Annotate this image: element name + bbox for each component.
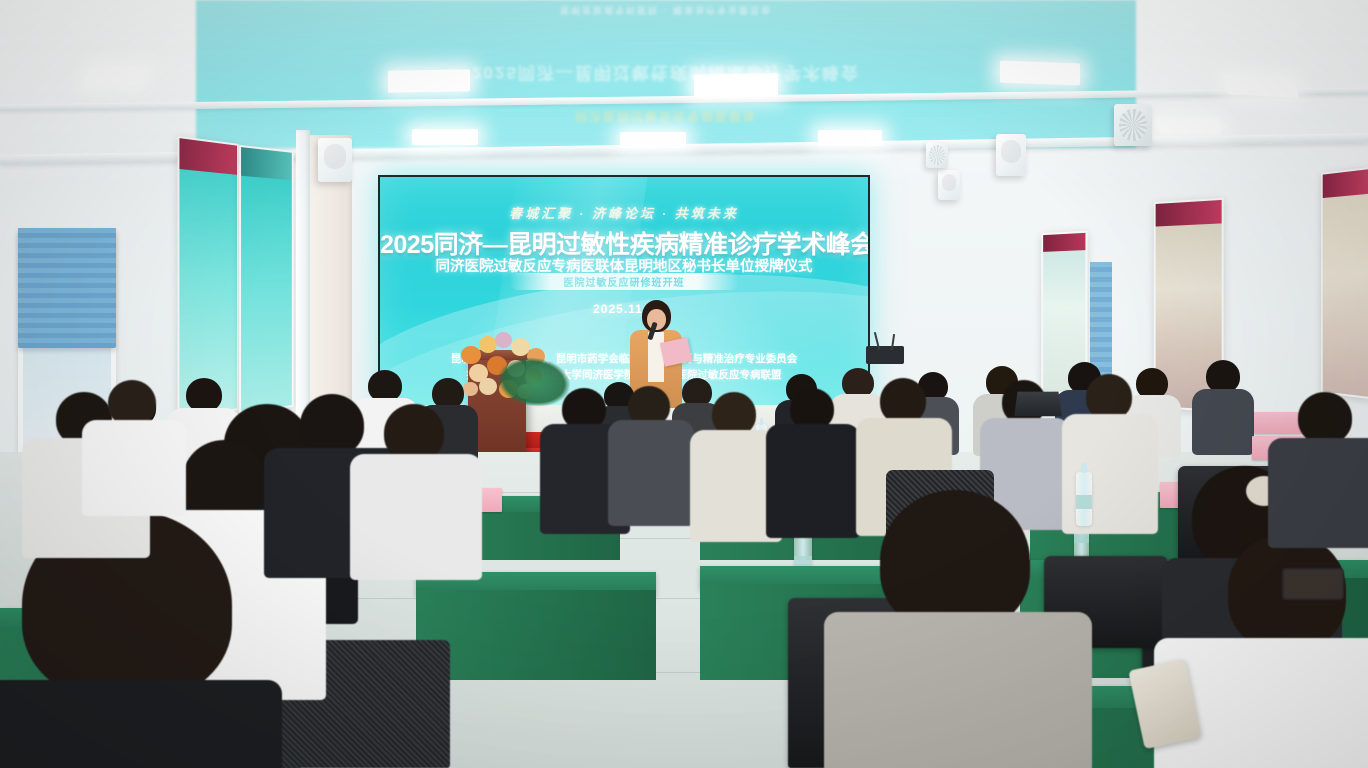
presenter-face <box>647 309 666 330</box>
wall-poster-right-3 <box>1321 167 1368 399</box>
exhaust-fan-right <box>1114 104 1152 146</box>
wall-speaker-left <box>318 138 352 182</box>
ceiling-light-panel <box>1156 118 1221 134</box>
ceiling-light-panel <box>1000 61 1080 86</box>
camera-equipment <box>866 346 904 364</box>
wall-banner-left-1 <box>177 136 238 418</box>
ceiling-light-panel <box>694 73 778 96</box>
screen-organizer-line-1: 昆明皮肤病专科医院、昆明市药学会临床药安全用药与精准治疗专业委员会 <box>380 351 868 366</box>
laptop[interactable] <box>1014 392 1062 417</box>
ceiling-light-panel <box>1223 74 1299 98</box>
wall-speaker-right <box>996 134 1026 176</box>
wall-speaker-center-right <box>938 170 960 200</box>
conference-room-photo: 昆明皮肤病专科医院 · 精准治疗专业委员会 2025同济—昆明过敏性疾病精准诊疗… <box>0 0 1368 768</box>
ceiling-light-panel <box>620 132 686 148</box>
ceiling-light-panel <box>412 129 478 145</box>
door-frame-left <box>296 130 310 420</box>
wall-banner-left-2 <box>239 145 294 413</box>
ceiling-light-panel <box>388 69 470 92</box>
ceiling-screen-reflection: 昆明皮肤病专科医院 · 精准治疗专业委员会 2025同济—昆明过敏性疾病精准诊疗… <box>196 0 1136 148</box>
eyeglasses <box>1282 568 1344 600</box>
exhaust-fan-center <box>926 142 948 168</box>
floral-greenery <box>495 353 573 411</box>
reflection-text-line-1: 昆明皮肤病专科医院 · 精准治疗专业委员会 <box>196 4 1136 17</box>
ceiling-light-panel <box>818 130 882 146</box>
reflection-text-line-3: 同济医院过敏反应专病医联体 <box>196 108 1136 125</box>
table-row3-left-side <box>416 590 656 680</box>
window-blind-left[interactable] <box>18 228 116 348</box>
water-bottle <box>1076 472 1092 526</box>
reflection-text-line-2: 2025同济—昆明过敏性疾病精准诊疗学术峰会 <box>196 62 1136 87</box>
ceiling-light-panel <box>83 65 149 87</box>
